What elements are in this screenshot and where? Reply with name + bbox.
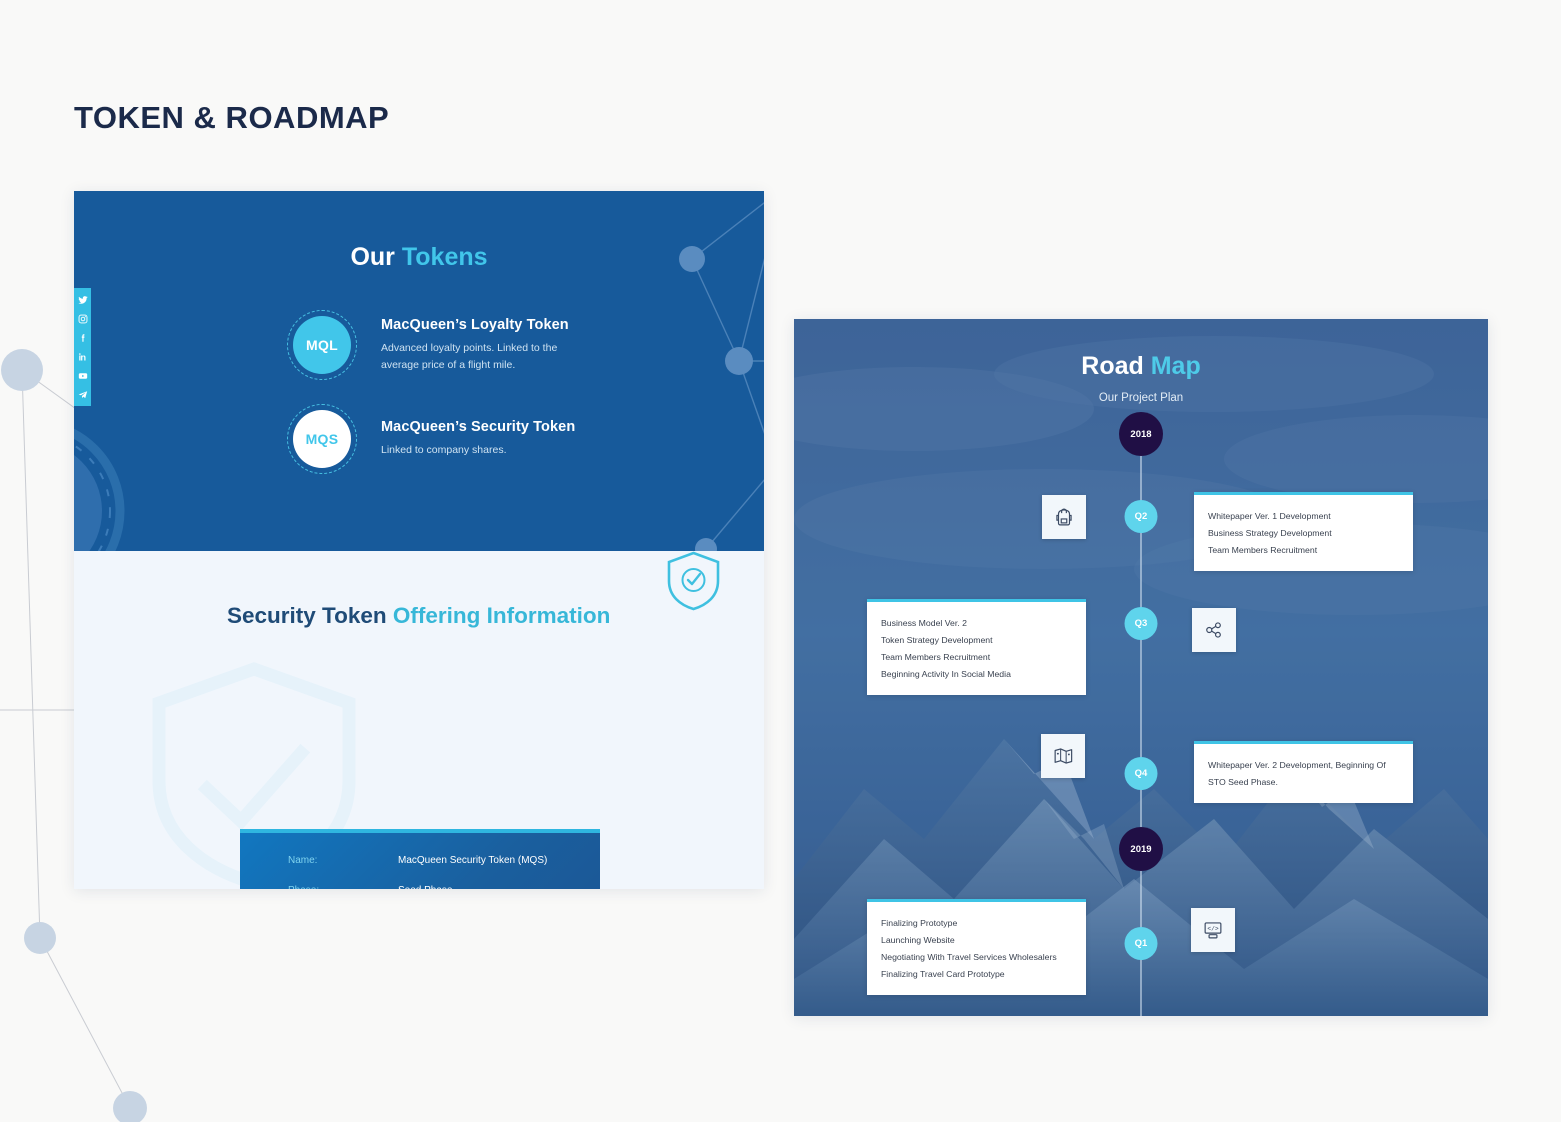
mql-symbol: MQL — [293, 316, 351, 374]
mqs-token-name: MacQueen’s Security Token — [381, 419, 575, 435]
instagram-icon[interactable] — [77, 313, 88, 324]
timeline-info-card-q1: Finalizing Prototype Launching Website N… — [867, 899, 1086, 995]
map-icon[interactable] — [1041, 734, 1085, 778]
mqs-token-description: Linked to company shares. — [381, 442, 575, 458]
timeline-info-card-q2: Whitepaper Ver. 1 Development Business S… — [1194, 492, 1413, 571]
telegram-icon[interactable] — [77, 389, 88, 400]
our-tokens-heading-accent: Tokens — [402, 243, 488, 271]
list-item: Team Members Recruitment — [1208, 542, 1399, 559]
sto-heading-plain: Security Token — [227, 603, 393, 628]
mql-token-name: MacQueen’s Loyalty Token — [381, 317, 596, 333]
facebook-icon[interactable] — [77, 332, 88, 343]
page-title: TOKEN & ROADMAP — [74, 100, 389, 136]
timeline-node-2018[interactable]: 2018 — [1119, 412, 1163, 456]
network-share-icon[interactable] — [1192, 608, 1236, 652]
code-monitor-icon[interactable]: </> — [1191, 908, 1235, 952]
sto-value-name: MacQueen Security Token (MQS) — [398, 855, 547, 866]
list-item: Beginning Activity In Social Media — [881, 666, 1072, 683]
token-card-top: Our Tokens MQL MacQueen’s Loyalty Token … — [74, 191, 764, 551]
youtube-icon[interactable] — [77, 370, 88, 381]
sto-info-table: Name: MacQueen Security Token (MQS) Phas… — [240, 829, 600, 889]
list-item: Negotiating With Travel Services Wholesa… — [881, 949, 1072, 966]
token-item-mql: MQL MacQueen’s Loyalty Token Advanced lo… — [74, 310, 764, 380]
roadmap-heading: Road Map — [794, 319, 1488, 381]
token-card: Our Tokens MQL MacQueen’s Loyalty Token … — [74, 191, 764, 889]
social-media-rail[interactable] — [74, 288, 91, 406]
sto-heading: Security Token Offering Information — [227, 551, 764, 629]
sto-section: Security Token Offering Information Name… — [74, 551, 764, 889]
list-item: Finalizing Prototype — [881, 915, 1072, 932]
mqs-symbol: MQS — [293, 410, 351, 468]
backpack-icon[interactable] — [1042, 495, 1086, 539]
list-item: Business Strategy Development — [1208, 525, 1399, 542]
mql-token-text: MacQueen’s Loyalty Token Advanced loyalt… — [381, 317, 596, 373]
mql-token-description: Advanced loyalty points. Linked to the a… — [381, 340, 596, 373]
timeline-node-q3[interactable]: Q3 — [1125, 607, 1158, 640]
linkedin-icon[interactable] — [77, 351, 88, 362]
timeline-node-2019[interactable]: 2019 — [1119, 827, 1163, 871]
list-item: Token Strategy Development — [881, 632, 1072, 649]
sto-value-phase: Seed Phase — [398, 885, 453, 889]
mqs-token-text: MacQueen’s Security Token Linked to comp… — [381, 419, 575, 458]
list-item: Business Model Ver. 2 — [881, 615, 1072, 632]
timeline-node-q4[interactable]: Q4 — [1125, 757, 1158, 790]
sto-heading-accent: Offering Information — [393, 603, 611, 628]
svg-text:</>: </> — [1207, 925, 1219, 932]
list-item: Whitepaper Ver. 1 Development — [1208, 508, 1399, 525]
list-item: Launching Website — [881, 932, 1072, 949]
roadmap-heading-accent: Map — [1151, 352, 1201, 380]
our-tokens-heading-plain: Our — [350, 243, 401, 271]
roadmap-card: Road Map Our Project Plan 2018 Q2 Whitep… — [794, 319, 1488, 1016]
timeline-info-card-q3: Business Model Ver. 2 Token Strategy Dev… — [867, 599, 1086, 695]
sto-label-name: Name: — [288, 855, 398, 866]
list-item: Whitepaper Ver. 2 Development, Beginning… — [1208, 757, 1399, 791]
sto-row-phase: Phase: Seed Phase — [288, 885, 552, 889]
page-root: TOKEN & ROADMAP — [0, 0, 1561, 1122]
twitter-icon[interactable] — [77, 294, 88, 305]
token-item-mqs: MQS MacQueen’s Security Token Linked to … — [74, 404, 764, 474]
list-item: Finalizing Travel Card Prototype — [881, 966, 1072, 983]
sto-label-phase: Phase: — [288, 885, 398, 889]
timeline-node-q2[interactable]: Q2 — [1125, 500, 1158, 533]
mql-token-badge: MQL — [287, 310, 357, 380]
roadmap-heading-plain: Road — [1081, 352, 1150, 380]
timeline-node-q1[interactable]: Q1 — [1125, 927, 1158, 960]
timeline-info-card-q4: Whitepaper Ver. 2 Development, Beginning… — [1194, 741, 1413, 803]
sto-row-name: Name: MacQueen Security Token (MQS) — [288, 855, 552, 866]
list-item: Team Members Recruitment — [881, 649, 1072, 666]
our-tokens-heading: Our Tokens — [74, 191, 764, 272]
roadmap-subtitle: Our Project Plan — [794, 392, 1488, 404]
mqs-token-badge: MQS — [287, 404, 357, 474]
